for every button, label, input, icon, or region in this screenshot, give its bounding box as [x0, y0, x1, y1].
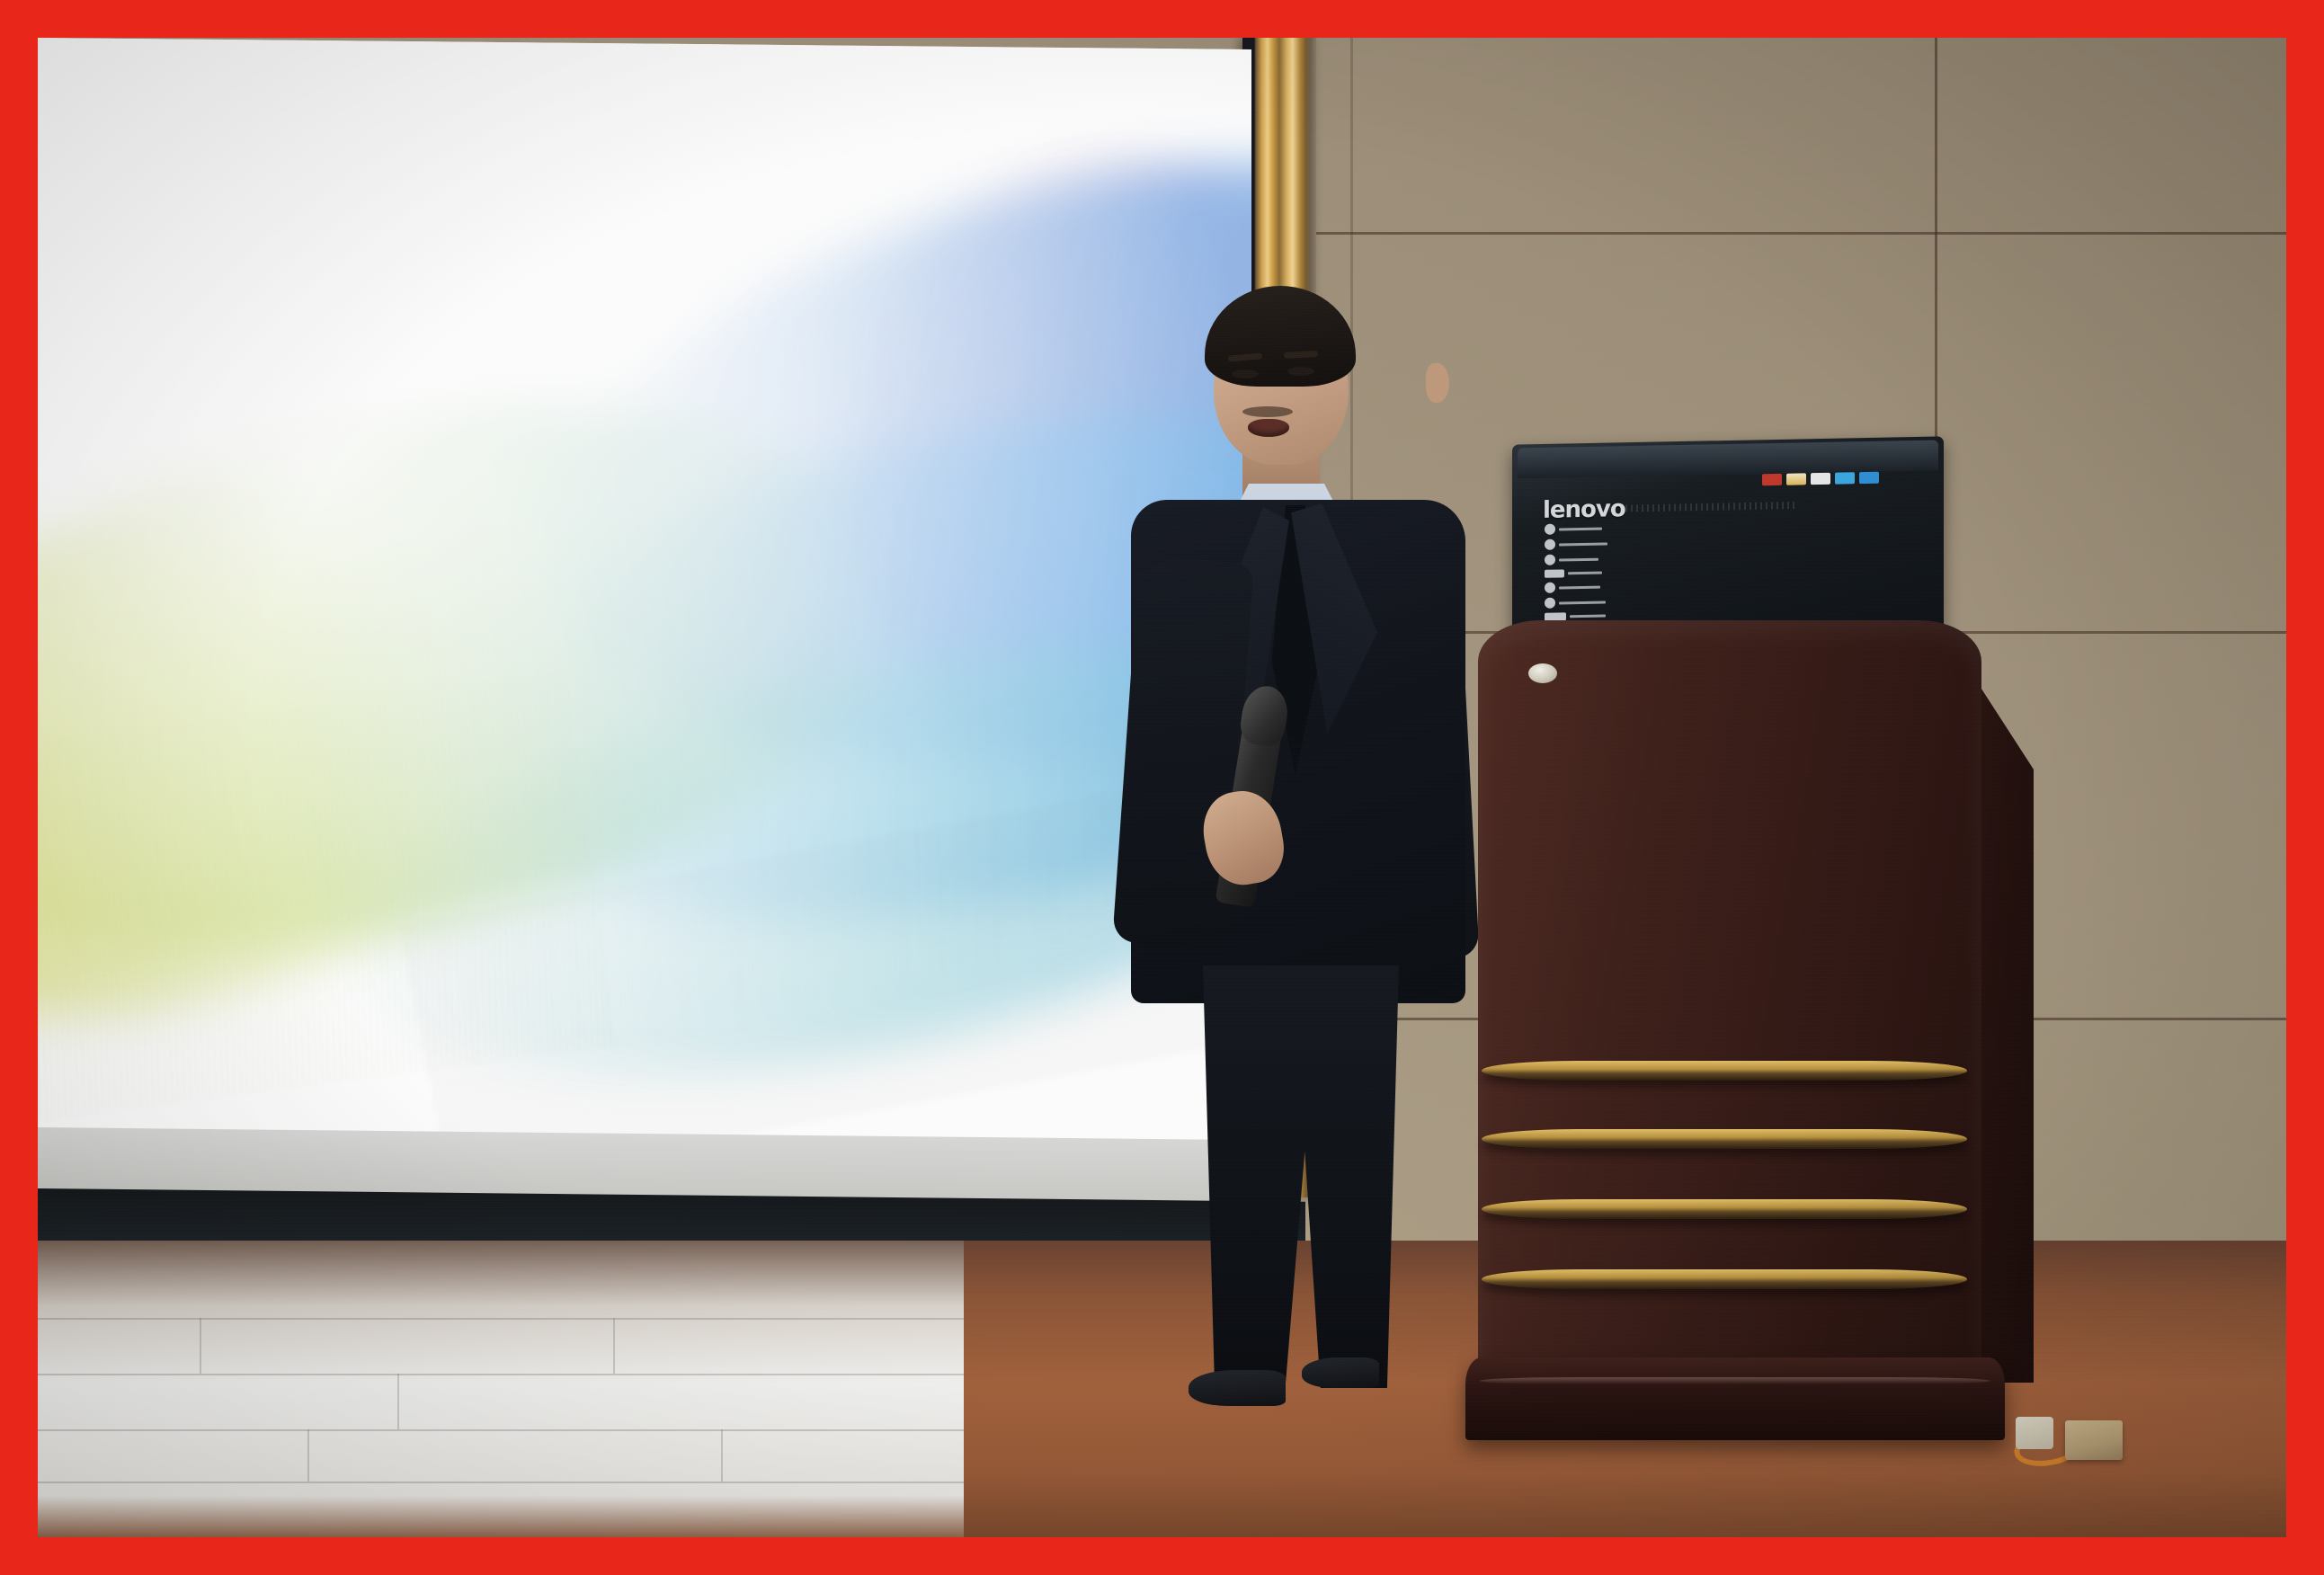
badge-red-icon: [1762, 474, 1782, 485]
power-plug: [2016, 1417, 2053, 1449]
spec-icon: [1545, 555, 1555, 565]
spec-sticker-row: [1545, 522, 1622, 535]
presenter-trousers: [1203, 965, 1399, 1388]
presenter-eye-left: [1232, 369, 1259, 378]
presenter-hair: [1205, 286, 1356, 387]
spec-text-line: [1570, 615, 1606, 618]
floor-outlet-box: [2065, 1420, 2123, 1460]
floor-plank-seam: [397, 1374, 399, 1429]
spec-text-line: [1559, 601, 1606, 604]
floor-plank-seam: [200, 1318, 201, 1374]
presenter-shoe-left: [1189, 1370, 1286, 1406]
photograph: lenovo: [38, 38, 2286, 1537]
presenter-eye-right: [1287, 367, 1314, 376]
podium-gold-band: [1482, 1269, 1967, 1289]
projection-screen: [38, 38, 1251, 1142]
spec-icon: [1545, 539, 1555, 550]
lenovo-logo: lenovo: [1543, 495, 1625, 524]
floor-plank-line: [38, 1318, 964, 1320]
spec-text-line: [1559, 585, 1600, 589]
wooden-podium: [1458, 620, 2034, 1465]
floor-plank-seam: [721, 1429, 723, 1482]
photo-red-border: lenovo: [0, 0, 2324, 1575]
spec-icon: [1545, 583, 1555, 593]
presenter-mouth: [1248, 419, 1289, 437]
spec-sticker-row: [1545, 553, 1622, 565]
presenter-ear: [1426, 363, 1449, 403]
floor-plank-seam: [307, 1429, 309, 1482]
spec-sticker-row: [1545, 538, 1622, 550]
badge-blue-2-icon: [1859, 472, 1879, 484]
spec-sticker-row: [1545, 581, 1622, 593]
floor-plank-line: [38, 1374, 964, 1375]
monitor-badge-strip: [1762, 472, 1879, 485]
badge-white-icon: [1811, 473, 1830, 485]
spec-text-line: [1568, 572, 1602, 575]
podium-gold-band: [1482, 1061, 1967, 1081]
floor-plank-line: [38, 1429, 964, 1431]
lenovo-monitor[interactable]: lenovo: [1512, 440, 1944, 645]
spec-icon: [1545, 569, 1564, 577]
podium-gold-band: [1482, 1129, 1967, 1149]
podium-base: [1465, 1357, 2005, 1440]
spec-text-line: [1559, 527, 1602, 530]
spec-text-line: [1559, 542, 1607, 546]
spec-sticker-row: [1545, 568, 1622, 578]
badge-blue-icon: [1835, 472, 1855, 484]
presenter: [1126, 298, 1476, 1440]
presenter-mustache: [1242, 406, 1293, 417]
floor-plank-line: [38, 1482, 964, 1483]
spec-icon: [1545, 524, 1555, 535]
spec-icon: [1545, 598, 1555, 609]
spec-sticker-row: [1545, 596, 1622, 609]
podium-gold-band: [1482, 1199, 1967, 1219]
badge-gold-icon: [1786, 473, 1806, 485]
spec-text-line: [1559, 557, 1598, 561]
floor-plank-seam: [613, 1318, 615, 1374]
stage-floor-left-light: [38, 1241, 964, 1537]
presenter-shoe-right: [1302, 1357, 1379, 1388]
podium-emblem-icon: [1528, 663, 1557, 683]
